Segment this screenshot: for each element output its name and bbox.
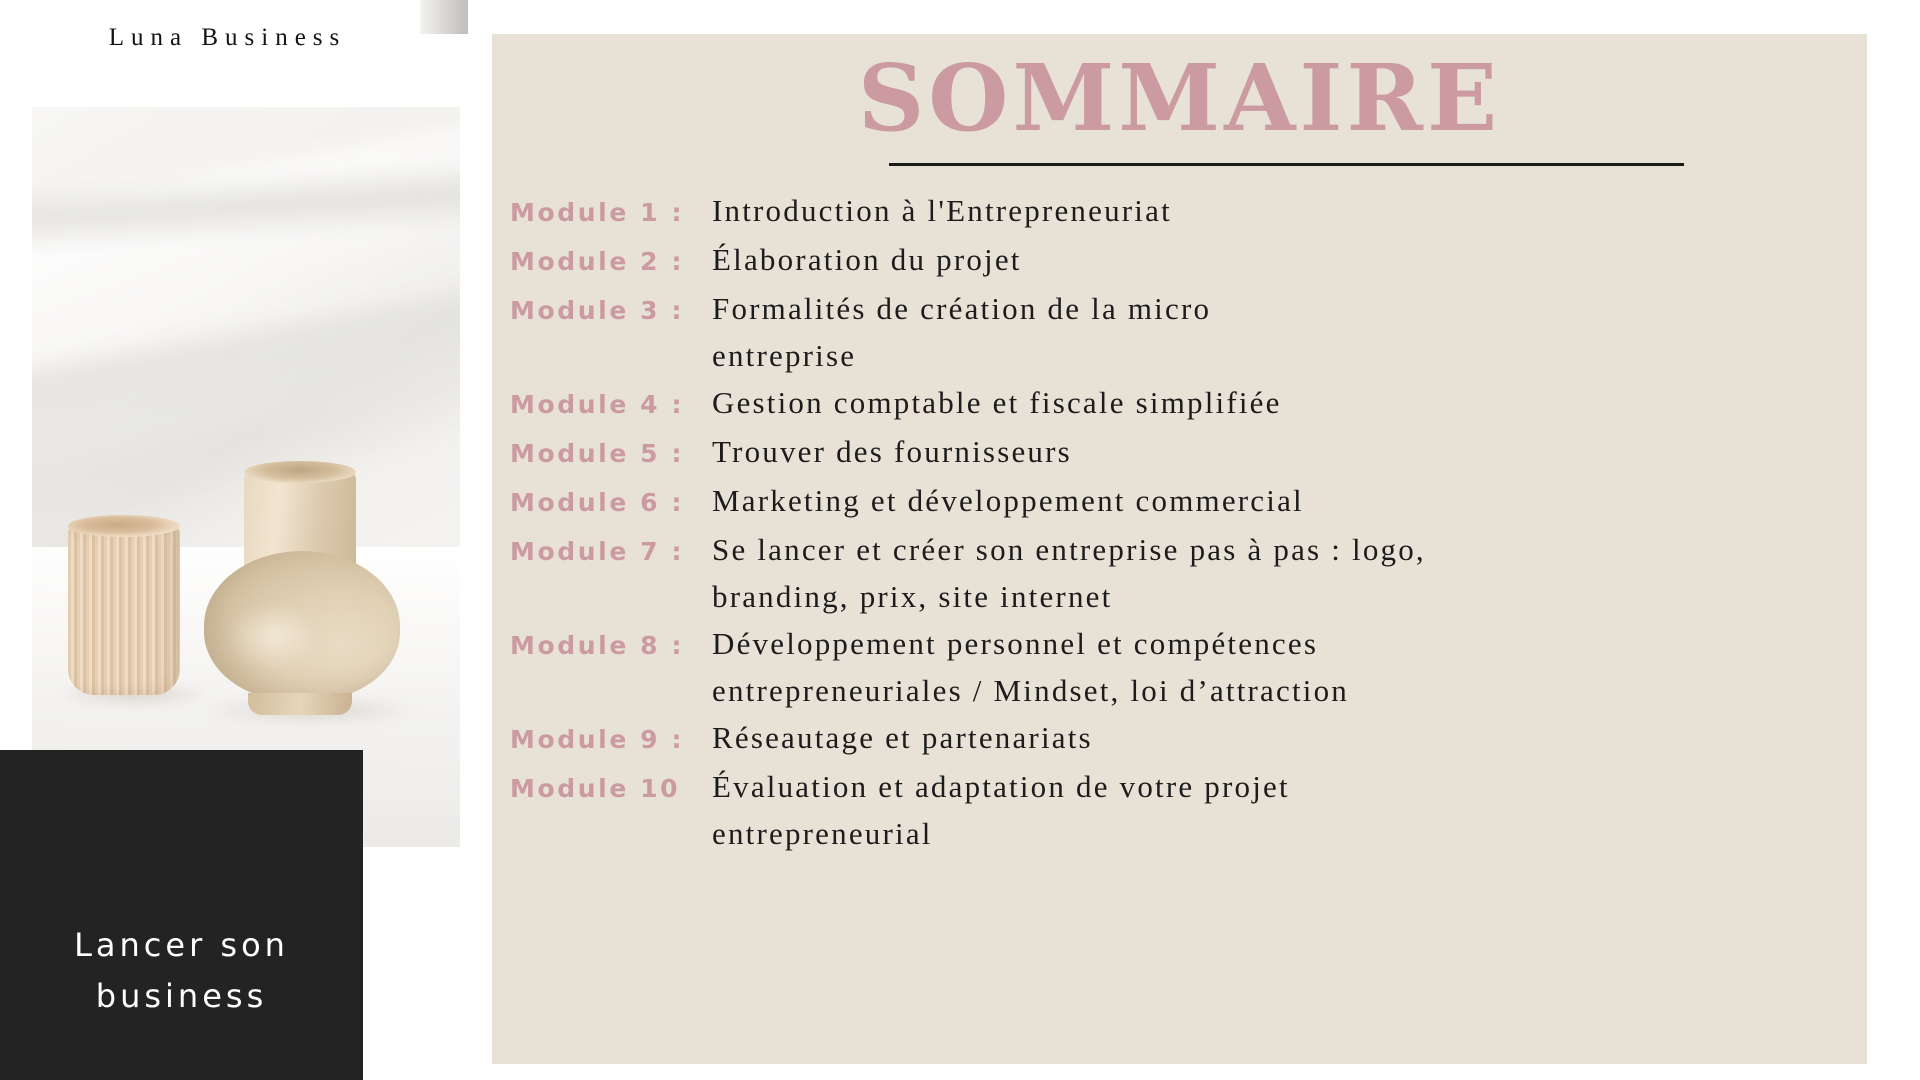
module-text-line1: Se lancer et créer son entreprise pas à … xyxy=(712,532,1426,567)
title-underline xyxy=(889,163,1684,166)
module-text: Trouver des fournisseurs xyxy=(712,428,1867,475)
module-label: Module 5 : xyxy=(510,430,712,477)
module-label: Module 2 : xyxy=(510,238,712,285)
module-label: Module 1 : xyxy=(510,189,712,236)
module-text-line1: Trouver des fournisseurs xyxy=(712,434,1072,469)
module-label: Module 8 : xyxy=(510,622,712,669)
ribbed-vase-rim xyxy=(68,515,180,537)
module-text: Évaluation et adaptation de votre projet… xyxy=(712,763,1867,857)
brand-name: Luna Business xyxy=(0,24,455,52)
module-text-line2: entrepreneurial xyxy=(712,810,1867,857)
round-vase-foot xyxy=(248,693,352,715)
round-vase-highlight xyxy=(228,601,320,671)
module-list: Module 1 : Introduction à l'Entrepreneur… xyxy=(510,187,1867,857)
module-label: Module 6 : xyxy=(510,479,712,526)
module-text-line2: branding, prix, site internet xyxy=(712,573,1867,620)
module-text: Développement personnel et compétences e… xyxy=(712,620,1867,714)
module-text: Se lancer et créer son entreprise pas à … xyxy=(712,526,1867,620)
module-text: Introduction à l'Entrepreneuriat xyxy=(712,187,1867,234)
module-label: Module 10 xyxy=(510,765,712,812)
module-text: Réseautage et partenariats xyxy=(712,714,1867,761)
module-text: Gestion comptable et fiscale simplifiée xyxy=(712,379,1867,426)
module-label: Module 9 : xyxy=(510,716,712,763)
module-text-line1: Élaboration du projet xyxy=(712,242,1022,277)
photo-top-strip xyxy=(420,0,468,34)
module-text: Élaboration du projet xyxy=(712,236,1867,283)
module-row: Module 9 : Réseautage et partenariats xyxy=(510,714,1867,763)
module-label: Module 7 : xyxy=(510,528,712,575)
module-text-line1: Gestion comptable et fiscale simplifiée xyxy=(712,385,1282,420)
module-text-line1: Introduction à l'Entrepreneuriat xyxy=(712,193,1172,228)
ribbed-vase xyxy=(68,527,180,695)
module-label: Module 4 : xyxy=(510,381,712,428)
module-text-line1: Marketing et développement commercial xyxy=(712,483,1304,518)
ceramic-vases-photo xyxy=(32,107,460,847)
round-vase-rim xyxy=(244,461,356,483)
module-row: Module 10 Évaluation et adaptation de vo… xyxy=(510,763,1867,857)
module-row: Module 8 : Développement personnel et co… xyxy=(510,620,1867,714)
module-text-line2: entreprise xyxy=(712,332,1867,379)
module-text-line1: Développement personnel et compétences xyxy=(712,626,1318,661)
module-text: Marketing et développement commercial xyxy=(712,477,1867,524)
module-row: Module 7 : Se lancer et créer son entrep… xyxy=(510,526,1867,620)
footer-dark-box xyxy=(0,750,363,1080)
module-row: Module 3 : Formalités de création de la … xyxy=(510,285,1867,379)
module-text-line1: Évaluation et adaptation de votre projet xyxy=(712,769,1290,804)
module-label: Module 3 : xyxy=(510,287,712,334)
module-text-line2: entrepreneuriales / Mindset, loi d’attra… xyxy=(712,667,1867,714)
footer-title: Lancer son business xyxy=(0,920,363,1022)
module-row: Module 6 : Marketing et développement co… xyxy=(510,477,1867,526)
content-panel: SOMMAIRE Module 1 : Introduction à l'Ent… xyxy=(492,34,1867,1064)
module-text-line1: Formalités de création de la micro xyxy=(712,291,1211,326)
module-text: Formalités de création de la micro entre… xyxy=(712,285,1867,379)
module-row: Module 5 : Trouver des fournisseurs xyxy=(510,428,1867,477)
module-row: Module 1 : Introduction à l'Entrepreneur… xyxy=(510,187,1867,236)
module-row: Module 2 : Élaboration du projet xyxy=(510,236,1867,285)
module-text-line1: Réseautage et partenariats xyxy=(712,720,1093,755)
page-title: SOMMAIRE xyxy=(492,52,1867,144)
module-row: Module 4 : Gestion comptable et fiscale … xyxy=(510,379,1867,428)
